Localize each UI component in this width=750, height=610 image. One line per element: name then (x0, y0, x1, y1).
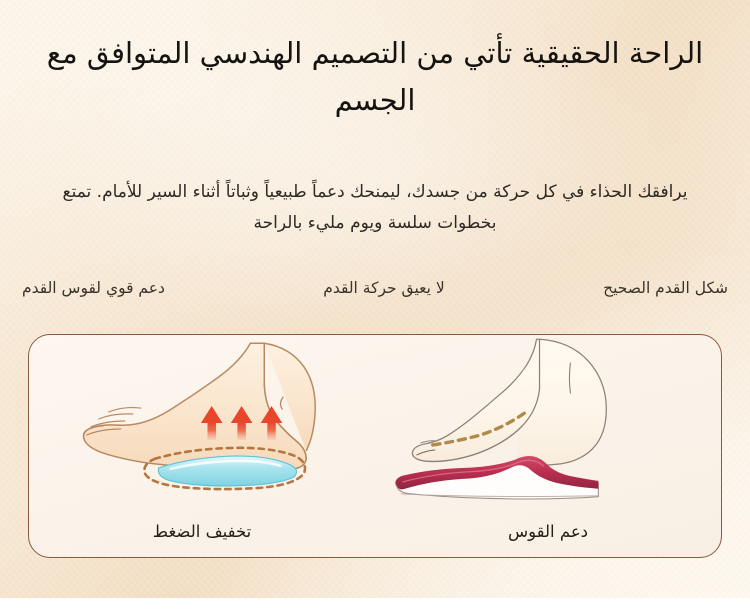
foot-arch-support-icon (375, 337, 721, 505)
foot-gel-cushion-icon (29, 337, 375, 505)
pressure-relief-illustration (29, 337, 375, 505)
illustration-card: دعم القوس (28, 334, 722, 558)
pressure-relief-caption: تخفيف الضغط (29, 522, 375, 541)
panel-arch-support: دعم القوس (375, 335, 721, 557)
feature-label-correct-foot-shape: شكل القدم الصحيح (603, 277, 728, 299)
page-description: يرافقك الحذاء في كل حركة من جسدك، ليمنحك… (52, 177, 698, 239)
bottom-white-strip (0, 598, 750, 610)
panel-pressure-relief: تخفيف الضغط (29, 335, 375, 557)
page-title: الراحة الحقيقية تأتي من التصميم الهندسي … (40, 30, 710, 124)
arch-support-caption: دعم القوس (375, 522, 721, 541)
promo-banner: الراحة الحقيقية تأتي من التصميم الهندسي … (0, 0, 750, 610)
feature-label-unrestricted-movement: لا يعيق حركة القدم (323, 277, 444, 299)
arch-support-illustration (375, 337, 721, 505)
pressure-arrow-group (201, 406, 282, 440)
feature-label-row: شكل القدم الصحيح لا يعيق حركة القدم دعم … (22, 277, 728, 299)
feature-label-strong-arch-support: دعم قوي لقوس القدم (22, 277, 165, 299)
